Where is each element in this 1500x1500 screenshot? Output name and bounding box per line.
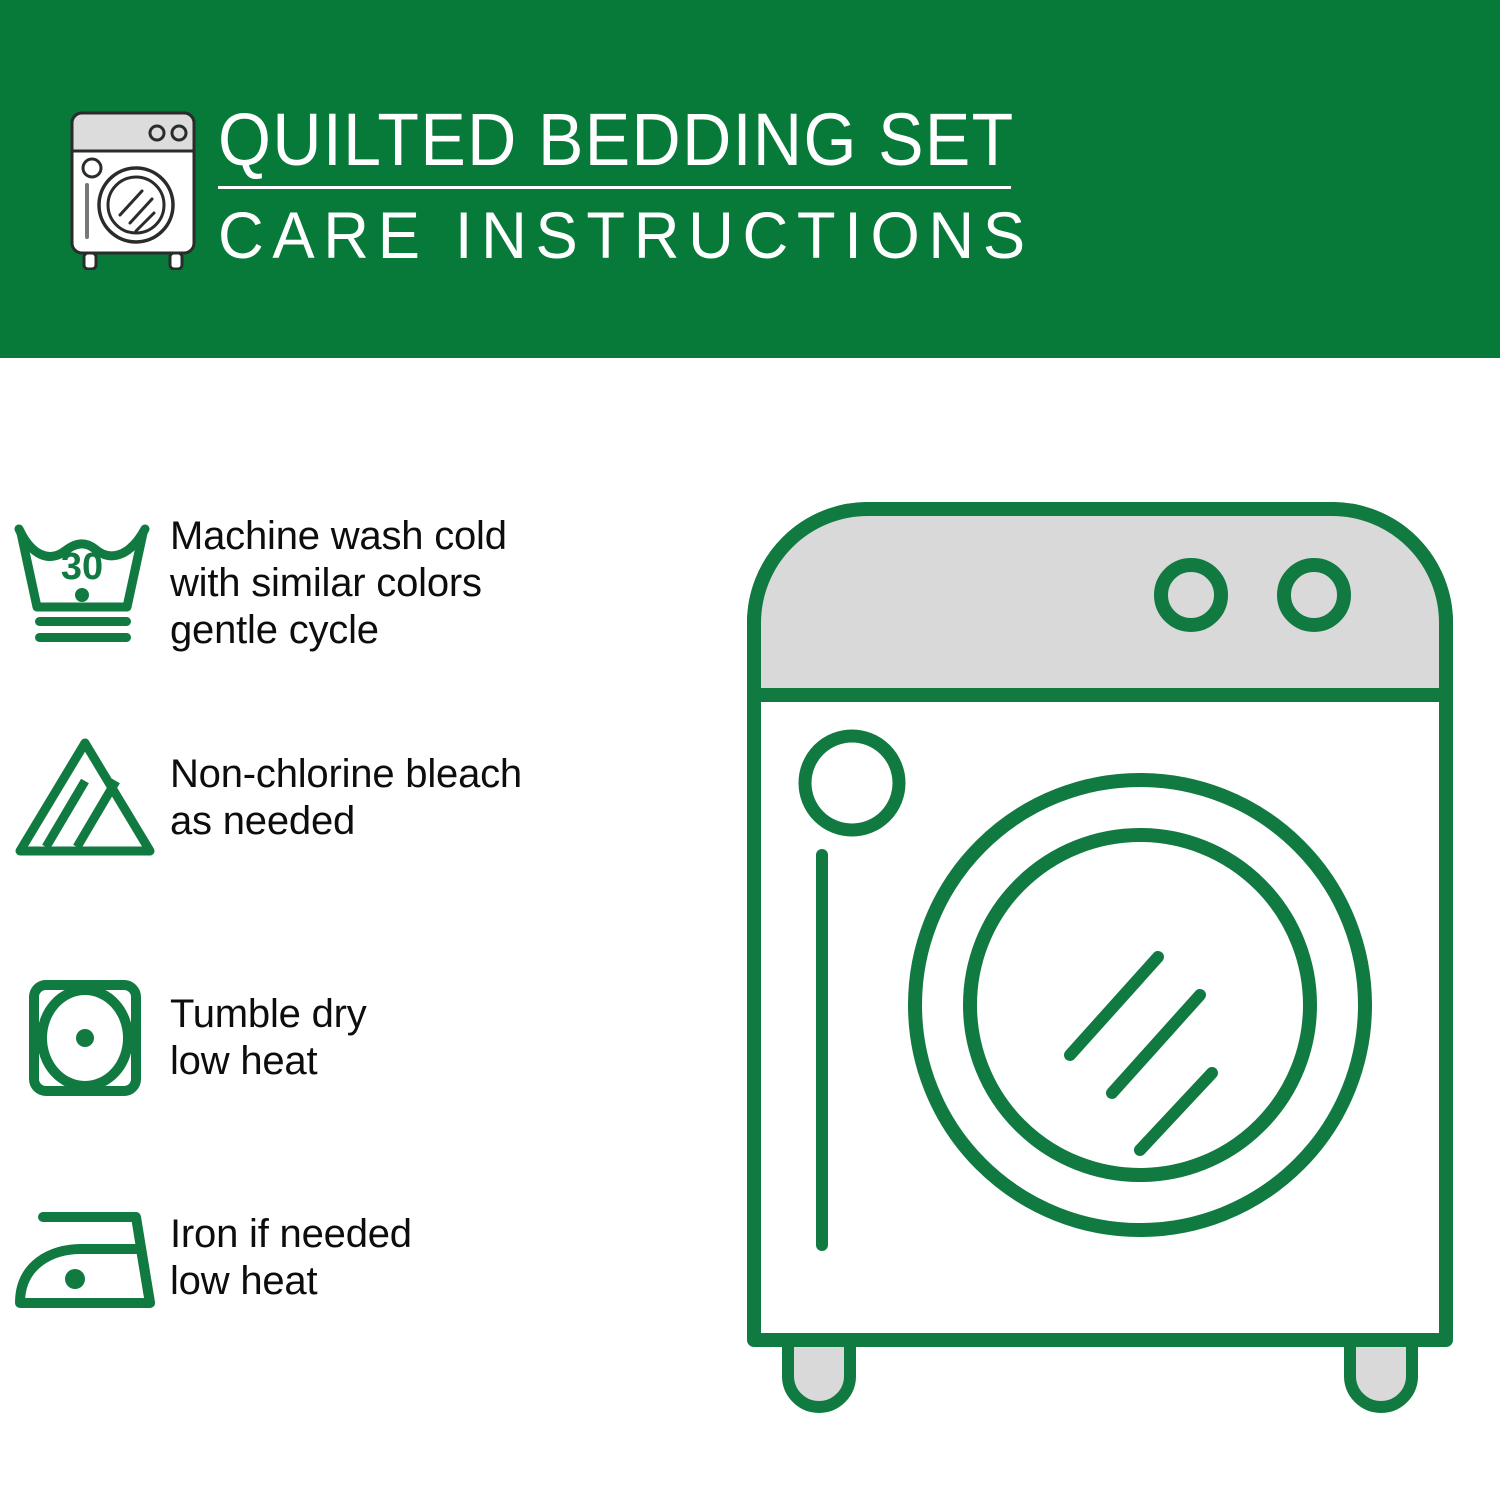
- wash-tub-30-gentle-icon: 30: [9, 519, 161, 649]
- triangle-non-chlorine-bleach-icon: [9, 733, 161, 863]
- list-item: 30 Machine wash cold with similar colors…: [0, 513, 740, 654]
- page-subtitle: CARE INSTRUCTIONS: [218, 197, 986, 273]
- list-item: Tumble dry low heat: [0, 973, 740, 1103]
- wash-temperature-label: 30: [61, 546, 103, 588]
- symbol-slot: [0, 973, 170, 1103]
- header-banner: QUILTED BEDDING SET CARE INSTRUCTIONS: [0, 0, 1500, 358]
- washing-machine-icon: [62, 105, 212, 270]
- tumble-dry-low-heat-icon: [9, 973, 161, 1103]
- care-instruction-list: 30 Machine wash cold with similar colors…: [0, 358, 740, 1500]
- knob-right[interactable]: [1284, 565, 1344, 625]
- washing-machine-illustration: [740, 495, 1460, 1425]
- list-item-label: Tumble dry low heat: [170, 991, 367, 1085]
- list-item: Non-chlorine bleach as needed: [0, 733, 740, 863]
- header-text-block: QUILTED BEDDING SET CARE INSTRUCTIONS: [218, 100, 1018, 273]
- list-item: Iron if needed low heat: [0, 1193, 740, 1323]
- list-item-label: Iron if needed low heat: [170, 1211, 412, 1305]
- page-title: QUILTED BEDDING SET: [218, 100, 954, 180]
- symbol-slot: [0, 1193, 170, 1323]
- knob-left[interactable]: [1161, 565, 1221, 625]
- iron-low-heat-icon: [9, 1193, 161, 1323]
- list-item-label: Machine wash cold with similar colors ge…: [170, 513, 507, 654]
- symbol-slot: [0, 733, 170, 863]
- title-divider: [218, 186, 1011, 189]
- symbol-slot: 30: [0, 519, 170, 649]
- list-item-label: Non-chlorine bleach as needed: [170, 751, 522, 845]
